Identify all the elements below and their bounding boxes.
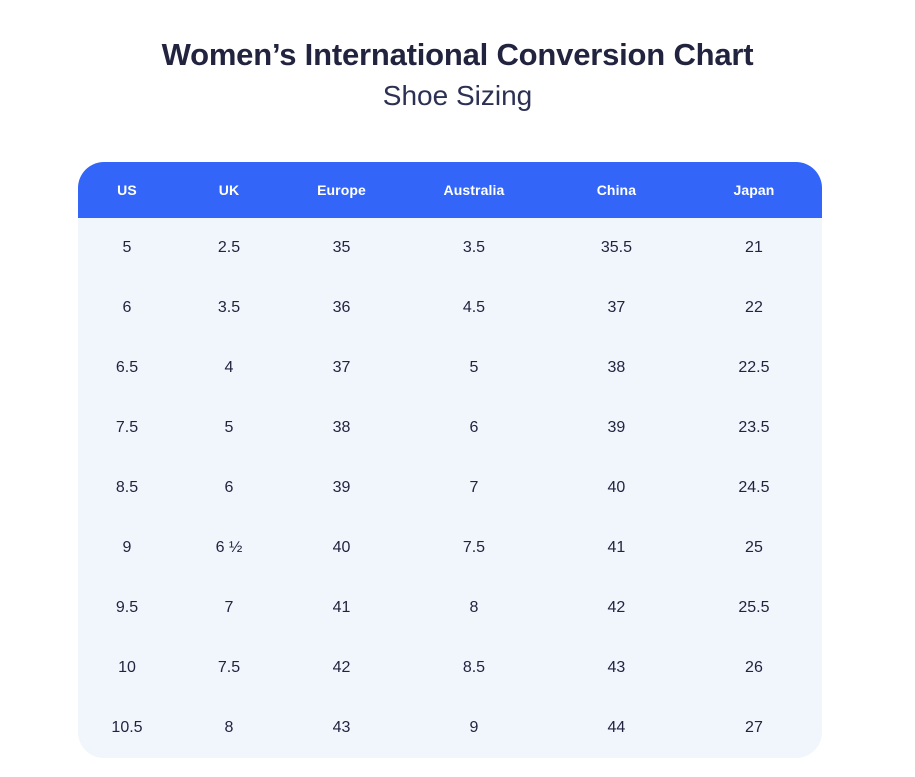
page-title: Women’s International Conversion Chart — [0, 33, 915, 77]
cell-japan: 26 — [686, 638, 822, 698]
cell-europe: 43 — [282, 698, 401, 758]
cell-europe: 36 — [282, 278, 401, 338]
cell-us: 5 — [78, 218, 176, 278]
cell-uk: 5 — [176, 398, 282, 458]
cell-europe: 35 — [282, 218, 401, 278]
cell-china: 38 — [547, 338, 686, 398]
cell-europe: 42 — [282, 638, 401, 698]
table-row: 7.5 5 38 6 39 23.5 — [78, 398, 822, 458]
cell-japan: 22.5 — [686, 338, 822, 398]
cell-uk: 6 — [176, 458, 282, 518]
size-conversion-table: US UK Europe Australia China Japan 5 2.5… — [78, 162, 822, 758]
cell-us: 9 — [78, 518, 176, 578]
table-header: US UK Europe Australia China Japan — [78, 162, 822, 218]
column-header-uk: UK — [176, 162, 282, 218]
cell-europe: 41 — [282, 578, 401, 638]
cell-us: 7.5 — [78, 398, 176, 458]
conversion-chart-page: Women’s International Conversion Chart S… — [0, 0, 915, 777]
column-header-europe: Europe — [282, 162, 401, 218]
cell-us: 10 — [78, 638, 176, 698]
size-conversion-table-card: US UK Europe Australia China Japan 5 2.5… — [78, 162, 822, 758]
cell-australia: 7 — [401, 458, 547, 518]
cell-europe: 38 — [282, 398, 401, 458]
cell-us: 6 — [78, 278, 176, 338]
cell-australia: 9 — [401, 698, 547, 758]
table-row: 8.5 6 39 7 40 24.5 — [78, 458, 822, 518]
cell-europe: 39 — [282, 458, 401, 518]
cell-uk: 7.5 — [176, 638, 282, 698]
table-body: 5 2.5 35 3.5 35.5 21 6 3.5 36 4.5 37 22 … — [78, 218, 822, 758]
table-row: 10 7.5 42 8.5 43 26 — [78, 638, 822, 698]
cell-uk: 2.5 — [176, 218, 282, 278]
column-header-us: US — [78, 162, 176, 218]
cell-uk: 3.5 — [176, 278, 282, 338]
cell-japan: 27 — [686, 698, 822, 758]
column-header-japan: Japan — [686, 162, 822, 218]
cell-australia: 6 — [401, 398, 547, 458]
cell-europe: 40 — [282, 518, 401, 578]
cell-japan: 25 — [686, 518, 822, 578]
table-row: 6 3.5 36 4.5 37 22 — [78, 278, 822, 338]
table-row: 10.5 8 43 9 44 27 — [78, 698, 822, 758]
cell-europe: 37 — [282, 338, 401, 398]
table-row: 6.5 4 37 5 38 22.5 — [78, 338, 822, 398]
cell-china: 44 — [547, 698, 686, 758]
table-row: 9 6 ½ 40 7.5 41 25 — [78, 518, 822, 578]
cell-australia: 8.5 — [401, 638, 547, 698]
cell-china: 39 — [547, 398, 686, 458]
cell-japan: 25.5 — [686, 578, 822, 638]
column-header-china: China — [547, 162, 686, 218]
cell-japan: 24.5 — [686, 458, 822, 518]
page-subtitle: Shoe Sizing — [0, 77, 915, 115]
cell-china: 37 — [547, 278, 686, 338]
cell-japan: 22 — [686, 278, 822, 338]
cell-us: 9.5 — [78, 578, 176, 638]
cell-uk: 4 — [176, 338, 282, 398]
heading-block: Women’s International Conversion Chart S… — [0, 33, 915, 115]
cell-china: 35.5 — [547, 218, 686, 278]
cell-us: 8.5 — [78, 458, 176, 518]
cell-us: 10.5 — [78, 698, 176, 758]
cell-china: 43 — [547, 638, 686, 698]
cell-australia: 7.5 — [401, 518, 547, 578]
cell-uk: 7 — [176, 578, 282, 638]
cell-china: 40 — [547, 458, 686, 518]
cell-uk: 6 ½ — [176, 518, 282, 578]
cell-china: 41 — [547, 518, 686, 578]
cell-australia: 8 — [401, 578, 547, 638]
cell-us: 6.5 — [78, 338, 176, 398]
cell-australia: 3.5 — [401, 218, 547, 278]
table-header-row: US UK Europe Australia China Japan — [78, 162, 822, 218]
column-header-australia: Australia — [401, 162, 547, 218]
cell-australia: 5 — [401, 338, 547, 398]
cell-uk: 8 — [176, 698, 282, 758]
cell-china: 42 — [547, 578, 686, 638]
cell-australia: 4.5 — [401, 278, 547, 338]
table-row: 5 2.5 35 3.5 35.5 21 — [78, 218, 822, 278]
cell-japan: 21 — [686, 218, 822, 278]
table-row: 9.5 7 41 8 42 25.5 — [78, 578, 822, 638]
cell-japan: 23.5 — [686, 398, 822, 458]
